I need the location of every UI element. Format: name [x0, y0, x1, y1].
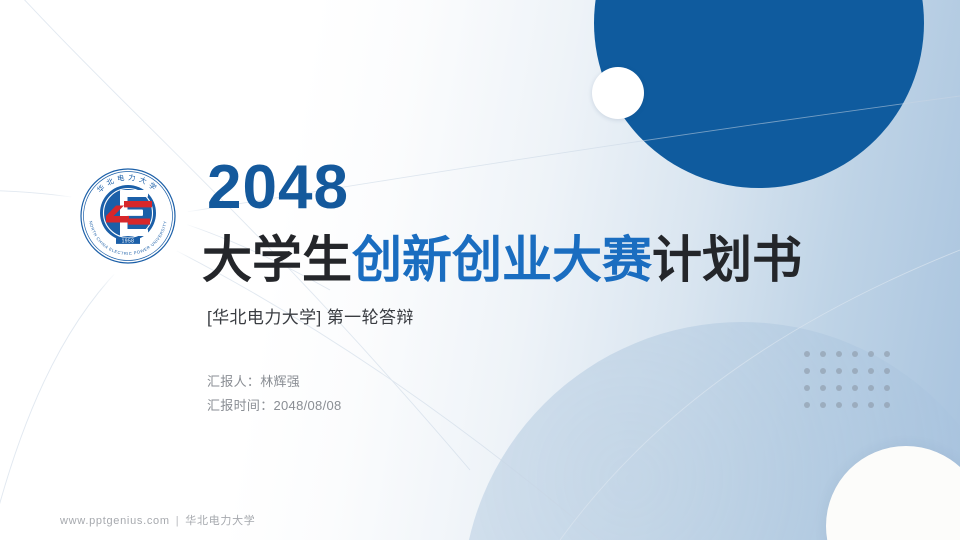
footer-site: www.pptgenius.com [60, 515, 170, 527]
ncepu-seal-icon: 华北电力大学 NORTH CHINA ELECTRIC POWER UNIVER… [72, 160, 184, 272]
university-logo: 华北电力大学 NORTH CHINA ELECTRIC POWER UNIVER… [72, 160, 184, 272]
year-number: 2048 [207, 157, 349, 219]
headline-lead: 大学生 [202, 232, 352, 288]
presentation-meta: 汇报人：林辉强 汇报时间：2048/08/08 [207, 370, 342, 417]
subtitle: [华北电力大学] 第一轮答辩 [207, 303, 414, 328]
title-slide: 华北电力大学 NORTH CHINA ELECTRIC POWER UNIVER… [0, 0, 960, 540]
footer-org: 华北电力大学 [185, 515, 255, 527]
date-line: 汇报时间：2048/08/08 [207, 394, 342, 418]
title-block: 2048 大学生创新创业大赛计划书 [华北电力大学] 第一轮答辩 汇报人：林辉强… [207, 0, 907, 540]
footer-separator: | [176, 515, 180, 527]
presenter-line: 汇报人：林辉强 [207, 370, 342, 394]
footer: www.pptgenius.com|华北电力大学 [60, 512, 256, 528]
headline-accent: 创新创业大赛 [352, 232, 652, 288]
headline-tail: 计划书 [652, 232, 802, 288]
main-headline: 大学生创新创业大赛计划书 [202, 232, 802, 288]
svg-text:1958: 1958 [122, 239, 135, 245]
